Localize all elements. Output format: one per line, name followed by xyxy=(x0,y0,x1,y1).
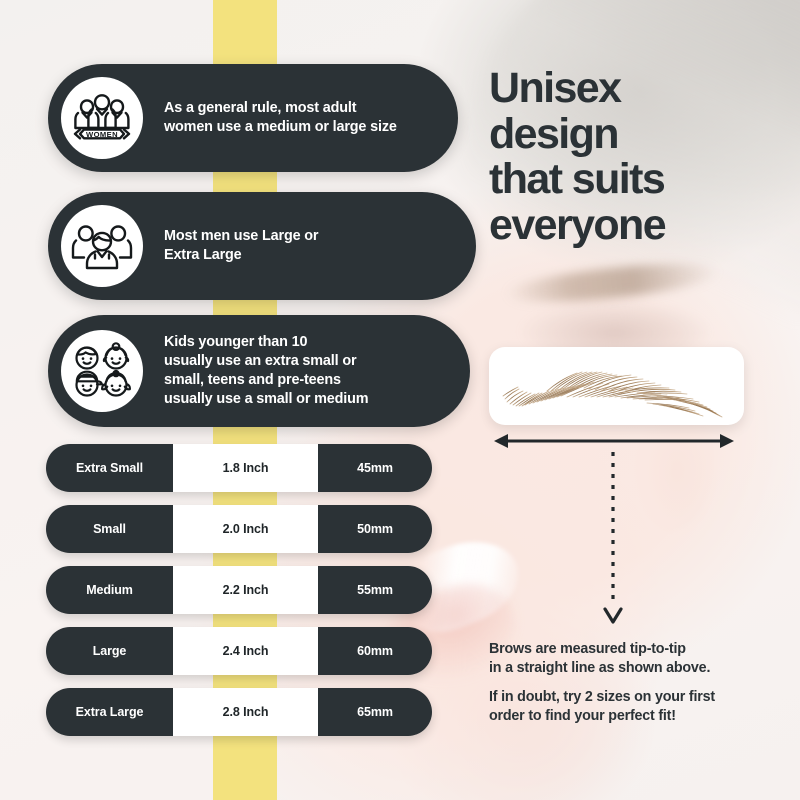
size-mm-cell: 55mm xyxy=(318,566,432,614)
size-mm-cell: 60mm xyxy=(318,627,432,675)
infographic-canvas: WOMEN As a general rule, most adult wome… xyxy=(0,0,800,800)
eyebrow-product-card xyxy=(489,347,744,425)
info-pill-women: WOMEN As a general rule, most adult wome… xyxy=(48,64,458,172)
size-name-cell: Extra Large xyxy=(46,688,173,736)
info-pill-kids: Kids younger than 10 usually use an extr… xyxy=(48,315,470,427)
size-mm-cell: 65mm xyxy=(318,688,432,736)
size-name-cell: Small xyxy=(46,505,173,553)
note-try-two-sizes: If in doubt, try 2 sizes on your first o… xyxy=(489,688,789,726)
size-inch-cell: 1.8 Inch xyxy=(173,444,318,492)
size-name-cell: Extra Small xyxy=(46,444,173,492)
table-row: Medium 2.2 Inch 55mm xyxy=(46,566,432,614)
size-name-cell: Medium xyxy=(46,566,173,614)
table-row: Extra Large 2.8 Inch 65mm xyxy=(46,688,432,736)
size-inch-cell: 2.0 Inch xyxy=(173,505,318,553)
size-inch-cell: 2.4 Inch xyxy=(173,627,318,675)
page-title: Unisex design that suits everyone xyxy=(489,66,789,248)
size-inch-cell: 2.8 Inch xyxy=(173,688,318,736)
women-group-icon: WOMEN xyxy=(61,77,143,159)
info-pill-text: Most men use Large or Extra Large xyxy=(164,227,318,265)
info-pill-text: Kids younger than 10 usually use an extr… xyxy=(164,333,368,409)
dotted-down-arrow-icon xyxy=(600,452,626,627)
table-row: Large 2.4 Inch 60mm xyxy=(46,627,432,675)
table-row: Extra Small 1.8 Inch 45mm xyxy=(46,444,432,492)
men-group-icon xyxy=(61,205,143,287)
table-row: Small 2.0 Inch 50mm xyxy=(46,505,432,553)
info-pill-text: As a general rule, most adult women use … xyxy=(164,99,397,137)
note-measured-tip-to-tip: Brows are measured tip-to-tip in a strai… xyxy=(489,640,779,678)
kids-faces-icon xyxy=(61,330,143,412)
size-mm-cell: 50mm xyxy=(318,505,432,553)
info-pill-men: Most men use Large or Extra Large xyxy=(48,192,476,300)
size-inch-cell: 2.2 Inch xyxy=(173,566,318,614)
svg-text:WOMEN: WOMEN xyxy=(86,130,118,139)
size-name-cell: Large xyxy=(46,627,173,675)
double-headed-arrow-icon xyxy=(494,430,734,452)
eyebrow-product-image xyxy=(489,347,744,425)
size-mm-cell: 45mm xyxy=(318,444,432,492)
